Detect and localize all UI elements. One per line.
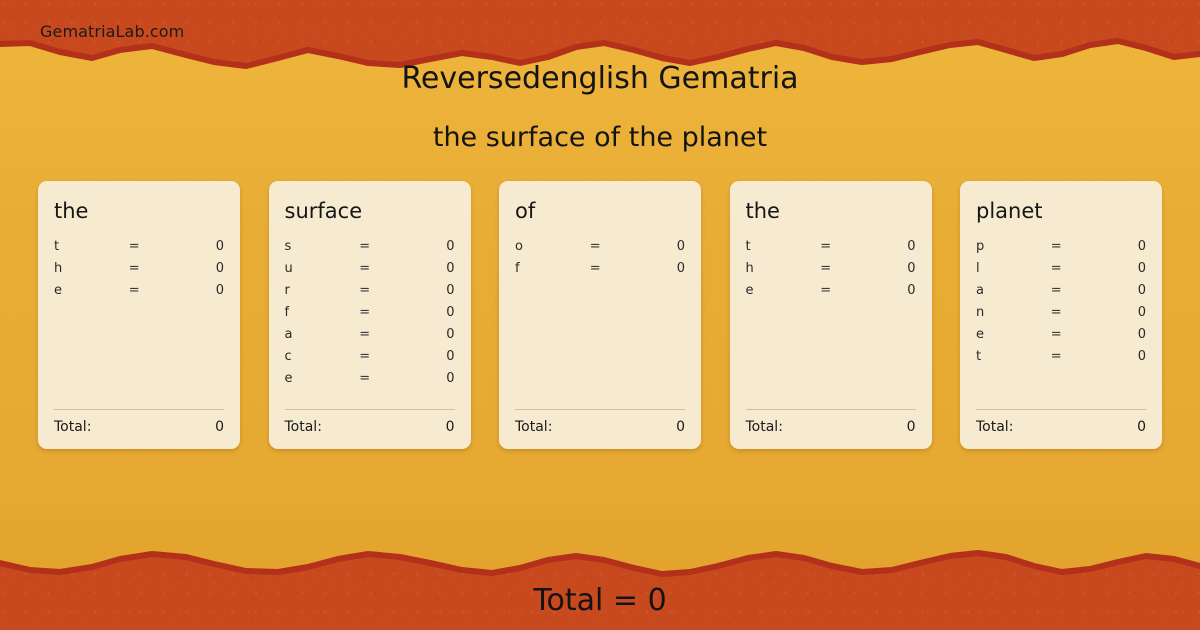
letter-glyph: c <box>285 349 360 364</box>
letter-value-row: u=0 <box>285 261 455 283</box>
letter-value-row: a=0 <box>976 283 1146 305</box>
equals-sign: = <box>359 305 403 320</box>
equals-sign: = <box>129 239 173 254</box>
letter-value-list: t=0h=0e=0 <box>746 239 916 401</box>
letter-value: 0 <box>403 305 454 320</box>
word-card-title: planet <box>976 199 1146 223</box>
letter-glyph: t <box>976 349 1051 364</box>
equals-sign: = <box>1051 239 1095 254</box>
card-divider <box>285 409 455 410</box>
site-brand-name: GematriaLab.com <box>40 22 184 41</box>
letter-glyph: t <box>54 239 129 254</box>
word-card-title: surface <box>285 199 455 223</box>
card-total-value: 0 <box>907 419 916 435</box>
equals-sign: = <box>1051 283 1095 298</box>
letter-value: 0 <box>1095 349 1146 364</box>
equals-sign: = <box>820 261 864 276</box>
letter-value-list: t=0h=0e=0 <box>54 239 224 401</box>
letter-glyph: s <box>285 239 360 254</box>
letter-value: 0 <box>864 261 915 276</box>
letter-glyph: e <box>976 327 1051 342</box>
letter-value: 0 <box>864 239 915 254</box>
letter-value: 0 <box>634 239 685 254</box>
letter-glyph: e <box>54 283 129 298</box>
letter-value-row: e=0 <box>746 283 916 305</box>
word-card-title: of <box>515 199 685 223</box>
card-total-label: Total: <box>285 419 322 435</box>
letter-value: 0 <box>1095 305 1146 320</box>
letter-glyph: p <box>976 239 1051 254</box>
letter-value-row: p=0 <box>976 239 1146 261</box>
letter-glyph: o <box>515 239 590 254</box>
letter-value-row: e=0 <box>976 327 1146 349</box>
equals-sign: = <box>590 239 634 254</box>
equals-sign: = <box>359 327 403 342</box>
letter-glyph: f <box>515 261 590 276</box>
card-total-row: Total:0 <box>285 419 455 435</box>
letter-value-row: t=0 <box>976 349 1146 371</box>
letter-value-row: f=0 <box>515 261 685 283</box>
letter-value-row: s=0 <box>285 239 455 261</box>
letter-glyph: h <box>54 261 129 276</box>
letter-value-list: p=0l=0a=0n=0e=0t=0 <box>976 239 1146 401</box>
word-card-list: thet=0h=0e=0Total:0surfaces=0u=0r=0f=0a=… <box>38 181 1162 449</box>
letter-value-list: o=0f=0 <box>515 239 685 401</box>
equals-sign: = <box>129 283 173 298</box>
grand-total: Total = 0 <box>0 583 1200 618</box>
card-divider <box>976 409 1146 410</box>
word-card: thet=0h=0e=0Total:0 <box>730 181 932 449</box>
letter-value-row: c=0 <box>285 349 455 371</box>
card-total-label: Total: <box>54 419 91 435</box>
letter-value: 0 <box>1095 261 1146 276</box>
letter-value-row: l=0 <box>976 261 1146 283</box>
equals-sign: = <box>820 283 864 298</box>
card-divider <box>746 409 916 410</box>
letter-value: 0 <box>403 283 454 298</box>
card-total-row: Total:0 <box>54 419 224 435</box>
letter-value: 0 <box>1095 327 1146 342</box>
letter-value-row: f=0 <box>285 305 455 327</box>
card-divider <box>515 409 685 410</box>
card-total-label: Total: <box>976 419 1013 435</box>
equals-sign: = <box>359 349 403 364</box>
equals-sign: = <box>359 261 403 276</box>
letter-value: 0 <box>403 327 454 342</box>
letter-value: 0 <box>403 261 454 276</box>
letter-value-row: a=0 <box>285 327 455 349</box>
equals-sign: = <box>1051 349 1095 364</box>
card-total-row: Total:0 <box>976 419 1146 435</box>
word-card: thet=0h=0e=0Total:0 <box>38 181 240 449</box>
equals-sign: = <box>359 371 403 386</box>
page-title: Reversedenglish Gematria <box>0 61 1200 96</box>
equals-sign: = <box>129 261 173 276</box>
card-total-value: 0 <box>1137 419 1146 435</box>
equals-sign: = <box>359 283 403 298</box>
word-card: planetp=0l=0a=0n=0e=0t=0Total:0 <box>960 181 1162 449</box>
letter-value-list: s=0u=0r=0f=0a=0c=0e=0 <box>285 239 455 401</box>
letter-value: 0 <box>1095 283 1146 298</box>
equals-sign: = <box>1051 327 1095 342</box>
letter-value: 0 <box>634 261 685 276</box>
card-total-value: 0 <box>446 419 455 435</box>
letter-glyph: l <box>976 261 1051 276</box>
letter-value: 0 <box>403 349 454 364</box>
letter-value: 0 <box>173 239 224 254</box>
letter-glyph: e <box>746 283 821 298</box>
letter-glyph: u <box>285 261 360 276</box>
letter-glyph: t <box>746 239 821 254</box>
word-card: ofo=0f=0Total:0 <box>499 181 701 449</box>
equals-sign: = <box>820 239 864 254</box>
word-card-title: the <box>54 199 224 223</box>
letter-glyph: a <box>976 283 1051 298</box>
card-total-row: Total:0 <box>515 419 685 435</box>
letter-value: 0 <box>173 283 224 298</box>
equals-sign: = <box>359 239 403 254</box>
word-card-title: the <box>746 199 916 223</box>
letter-value-row: t=0 <box>54 239 224 261</box>
letter-glyph: a <box>285 327 360 342</box>
letter-value: 0 <box>403 371 454 386</box>
letter-value-row: h=0 <box>746 261 916 283</box>
card-total-label: Total: <box>515 419 552 435</box>
letter-value: 0 <box>173 261 224 276</box>
letter-value: 0 <box>403 239 454 254</box>
letter-glyph: f <box>285 305 360 320</box>
letter-value-row: h=0 <box>54 261 224 283</box>
card-divider <box>54 409 224 410</box>
equals-sign: = <box>1051 305 1095 320</box>
word-card: surfaces=0u=0r=0f=0a=0c=0e=0Total:0 <box>269 181 471 449</box>
letter-value-row: t=0 <box>746 239 916 261</box>
letter-glyph: h <box>746 261 821 276</box>
letter-value: 0 <box>1095 239 1146 254</box>
letter-value-row: e=0 <box>285 371 455 393</box>
letter-glyph: r <box>285 283 360 298</box>
card-total-row: Total:0 <box>746 419 916 435</box>
card-total-value: 0 <box>215 419 224 435</box>
card-total-label: Total: <box>746 419 783 435</box>
gematria-phrase: the surface of the planet <box>0 122 1200 153</box>
letter-value-row: e=0 <box>54 283 224 305</box>
letter-value-row: r=0 <box>285 283 455 305</box>
letter-value-row: n=0 <box>976 305 1146 327</box>
letter-glyph: e <box>285 371 360 386</box>
letter-value-row: o=0 <box>515 239 685 261</box>
letter-glyph: n <box>976 305 1051 320</box>
letter-value: 0 <box>864 283 915 298</box>
card-total-value: 0 <box>676 419 685 435</box>
equals-sign: = <box>1051 261 1095 276</box>
equals-sign: = <box>590 261 634 276</box>
